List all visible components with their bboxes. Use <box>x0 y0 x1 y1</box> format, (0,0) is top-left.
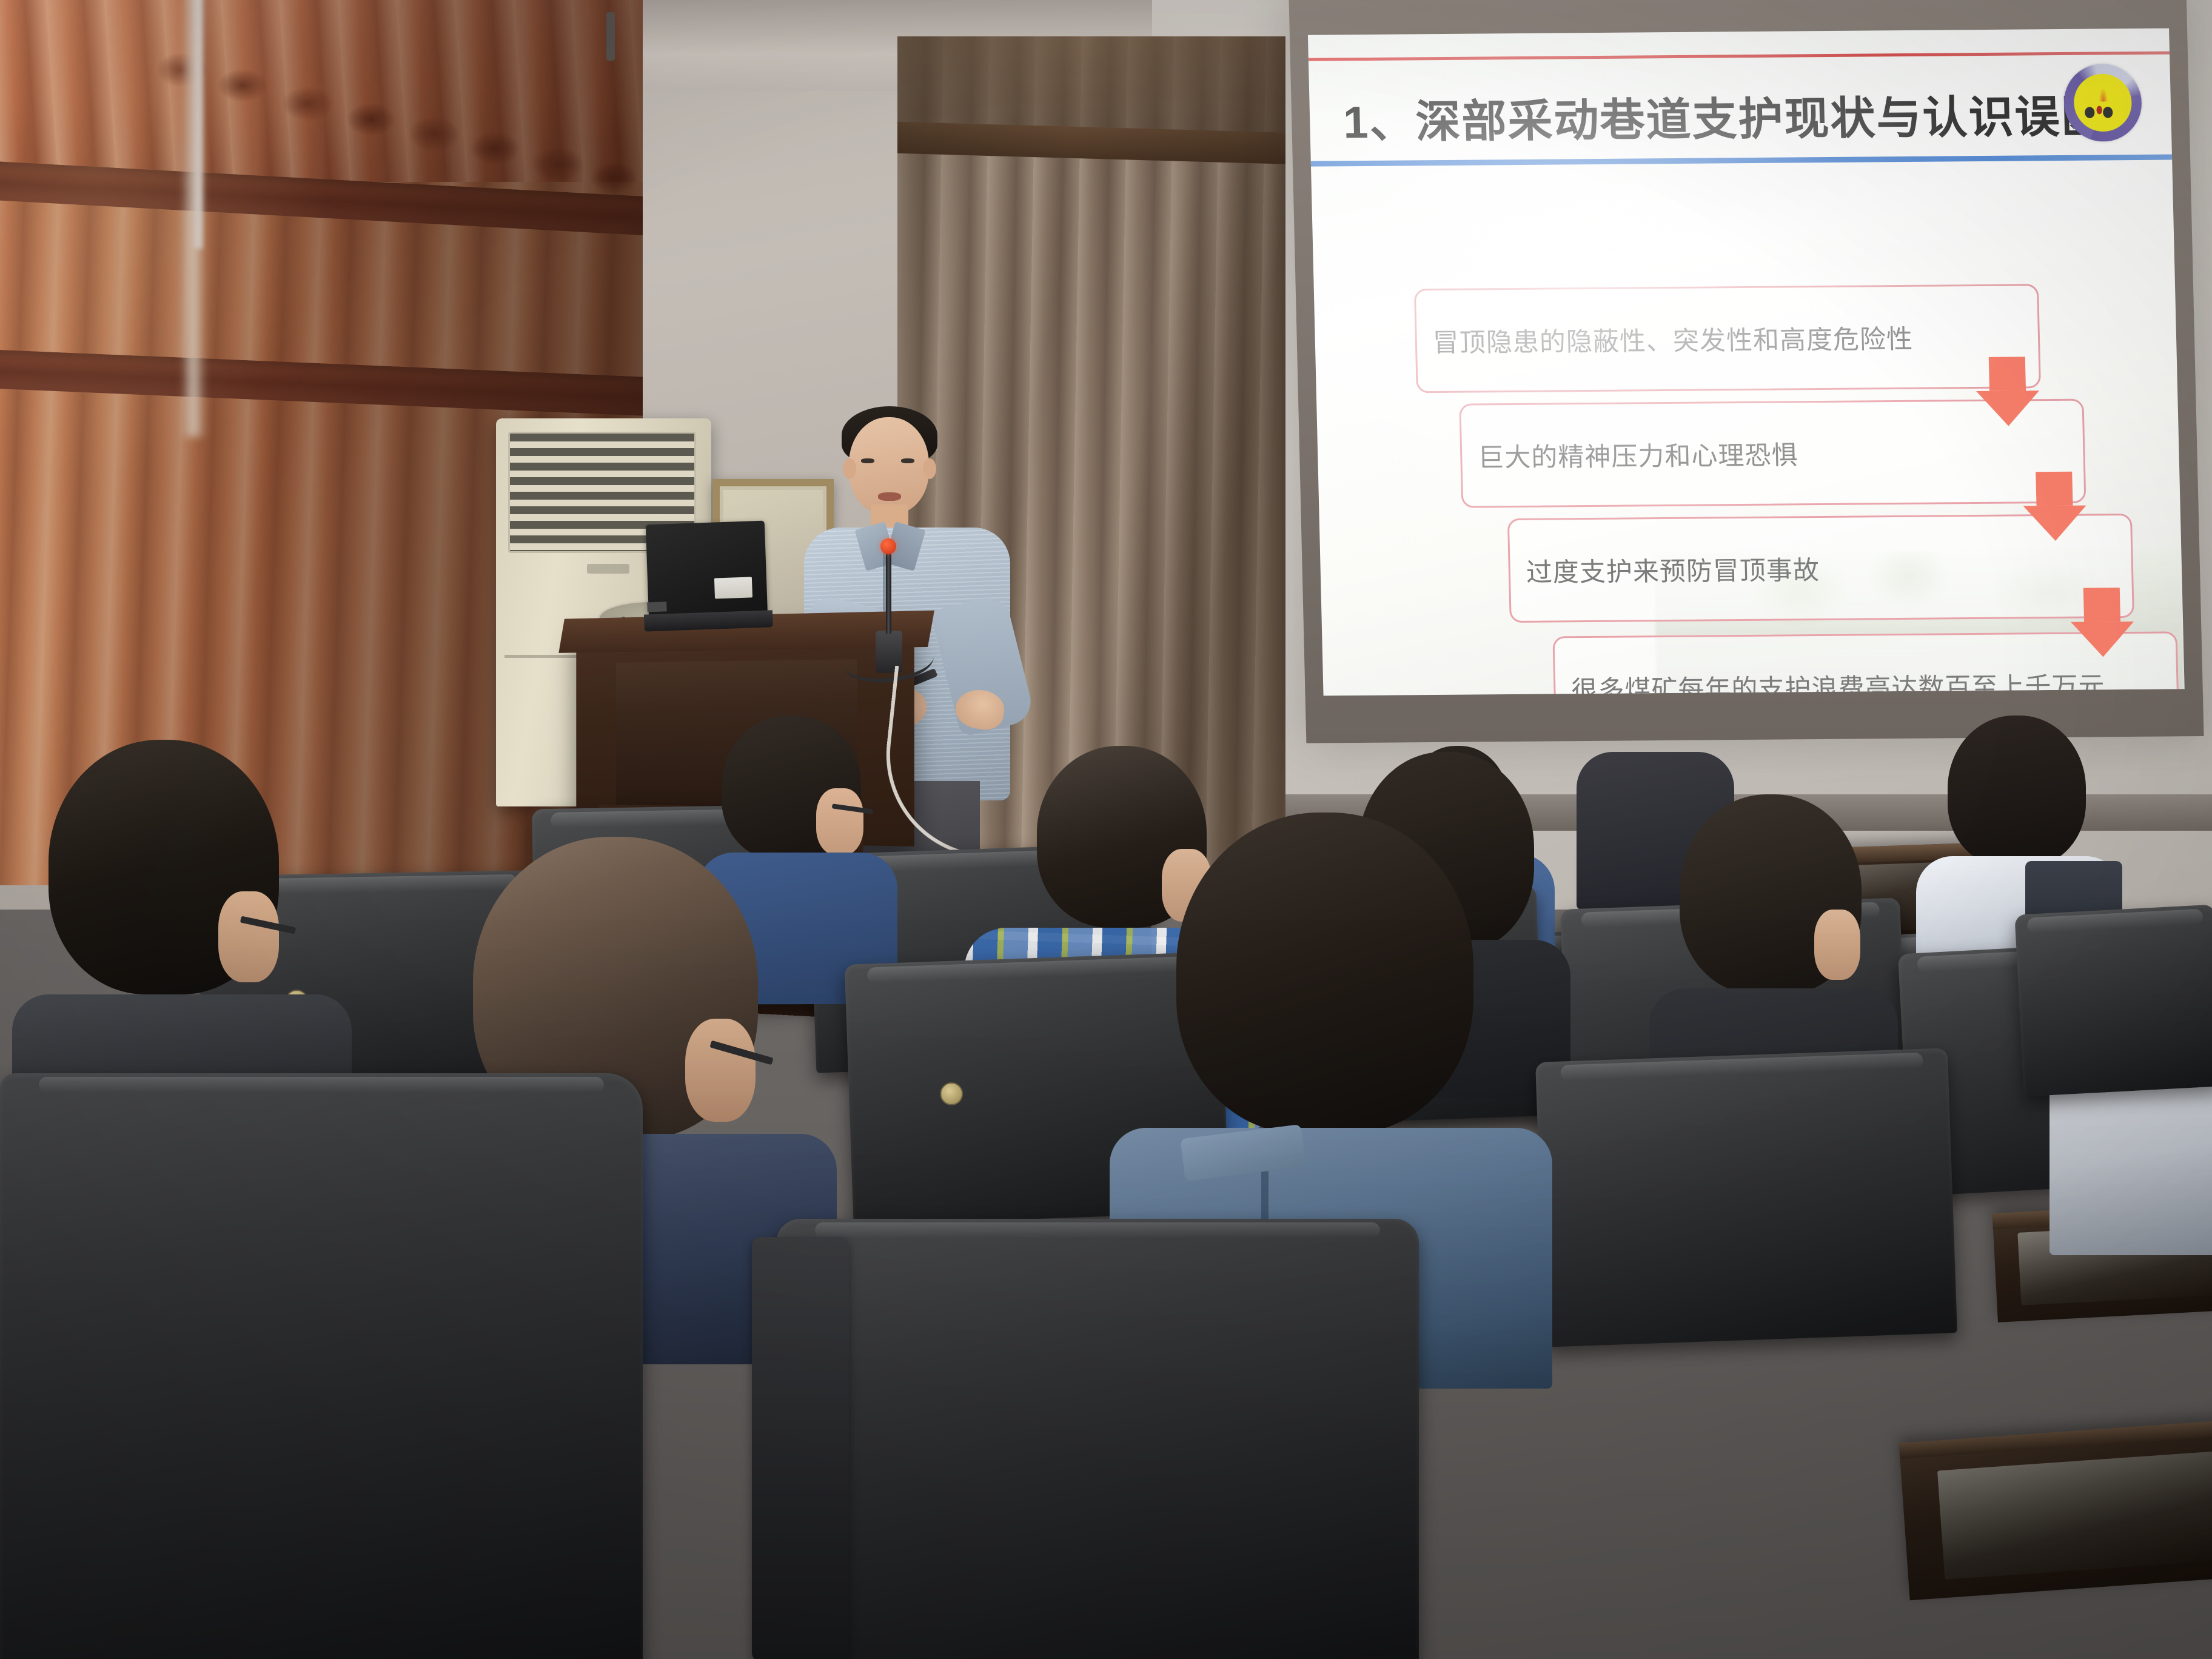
attendee-ear-cheek <box>685 1019 756 1122</box>
presenter-ear-right <box>923 458 936 479</box>
flow-box-1-text: 冒顶隐患的隐蔽性、突发性和高度危险性 <box>1416 318 1914 360</box>
presenter-eye-left <box>861 458 874 463</box>
title-divider-blue <box>1311 155 2172 167</box>
seat-far-right-back[interactable] <box>2014 905 2212 1097</box>
desk-glass-top <box>1937 1451 2212 1580</box>
laptop-hinge <box>647 602 667 612</box>
curtain-rod <box>606 12 615 61</box>
arrow-stem <box>2036 472 2073 506</box>
flow-box-2-text: 巨大的精神压力和心理恐惧 <box>1462 434 1799 474</box>
arrow-head <box>1976 390 2040 426</box>
flow-box-1: 冒顶隐患的隐蔽性、突发性和高度危险性 <box>1414 284 2041 393</box>
arrow-head <box>2023 506 2087 541</box>
presenter-ear-left <box>843 458 856 479</box>
photo-scene: 1、深部采动巷道支护现状与认识误区 冒顶隐患的隐蔽性、突发性和高度危险性 巨大的… <box>0 0 2212 1659</box>
arrow-stem <box>2083 588 2120 622</box>
conference-desk-right-lower <box>1899 1419 2212 1600</box>
projection-screen: 1、深部采动巷道支护现状与认识误区 冒顶隐患的隐蔽性、突发性和高度危险性 巨大的… <box>1289 0 2204 743</box>
microphone-stem <box>886 549 891 634</box>
crest-flame-icon <box>2099 88 2108 101</box>
slide-title: 1、深部采动巷道支护现状与认识误区 <box>1342 80 2108 151</box>
seat-emblem <box>940 1082 964 1105</box>
seat-foreground-left[interactable] <box>0 1073 643 1659</box>
attendee-hair <box>1948 716 2086 867</box>
seat-armrest-foreground <box>752 1237 849 1659</box>
seat-foreground[interactable] <box>776 1219 1419 1659</box>
presenter-eye-right <box>901 458 914 463</box>
attendee-hair <box>1176 813 1473 1134</box>
arrow-stem <box>1989 357 2026 390</box>
presentation-slide: 1、深部采动巷道支护现状与认识误区 冒顶隐患的隐蔽性、突发性和高度危险性 巨大的… <box>1308 28 2185 696</box>
ac-brand-badge <box>587 564 629 574</box>
presenter-mouth <box>878 492 901 501</box>
laptop-label-sticker <box>714 577 752 598</box>
title-divider-red <box>1309 52 2170 61</box>
attendee-face-side <box>1814 910 1860 980</box>
laptop-keyboard-base[interactable] <box>644 610 773 631</box>
attendee-ear-cheek <box>218 891 279 982</box>
microphone-capsule <box>880 538 896 554</box>
seat-front-center[interactable] <box>1535 1048 1957 1347</box>
desk-edge <box>1899 1419 2212 1459</box>
arrow-head <box>2071 622 2134 657</box>
flow-box-3-text: 过度支护来预防冒顶事故 <box>1510 549 1820 589</box>
presenter-laptop[interactable] <box>641 520 773 640</box>
